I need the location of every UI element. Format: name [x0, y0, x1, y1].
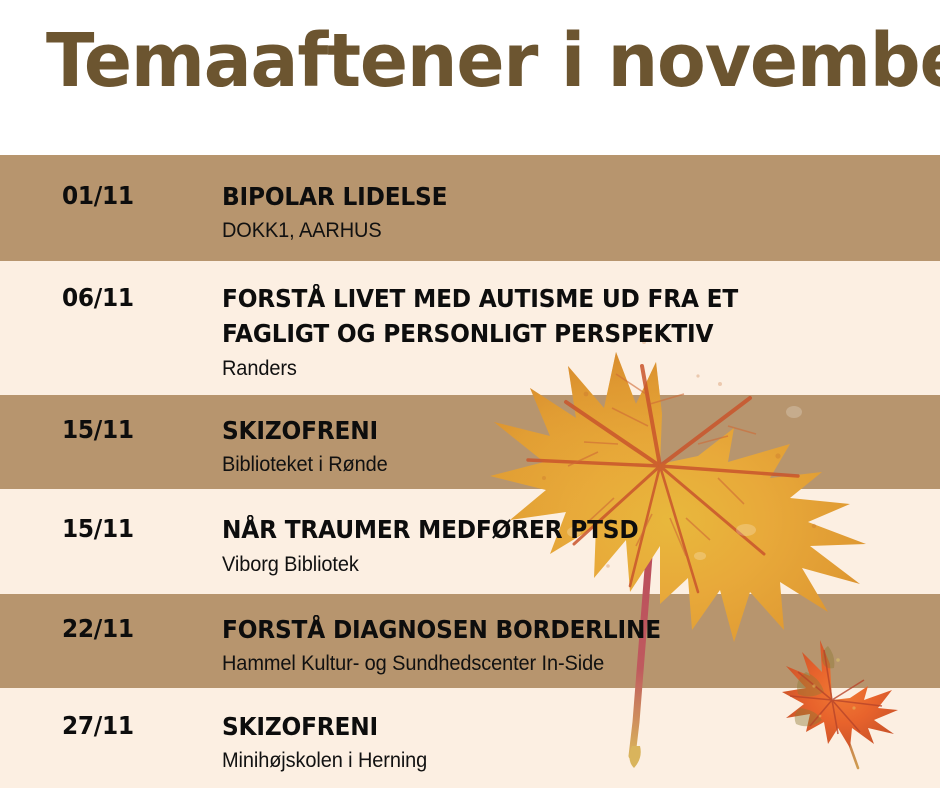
event-date: 27/11 — [62, 711, 134, 740]
event-venue: Randers — [222, 355, 895, 382]
event-body: SKIZOFRENIBiblioteket i Rønde — [222, 413, 930, 479]
event-body: SKIZOFRENIMinihøjskolen i Herning — [222, 709, 930, 775]
event-body: NÅR TRAUMER MEDFØRER PTSDViborg Bibliote… — [222, 512, 930, 578]
event-title: FORSTÅ LIVET MED AUTISME UD FRA ET FAGLI… — [222, 281, 880, 352]
event-row[interactable]: 15/11SKIZOFRENIBiblioteket i Rønde — [0, 395, 940, 489]
event-row[interactable]: 15/11NÅR TRAUMER MEDFØRER PTSDViborg Bib… — [0, 489, 940, 594]
event-date: 15/11 — [62, 514, 134, 543]
event-venue: Biblioteket i Rønde — [222, 451, 895, 478]
event-venue: Hammel Kultur- og Sundhedscenter In-Side — [222, 650, 895, 677]
event-title: FORSTÅ DIAGNOSEN BORDERLINE — [222, 612, 880, 648]
event-venue: DOKK1, AARHUS — [222, 217, 895, 244]
event-title: NÅR TRAUMER MEDFØRER PTSD — [222, 512, 880, 548]
poster-canvas: Temaaftener i november 01/11BIPOLAR LIDE… — [0, 0, 940, 788]
event-title: SKIZOFRENI — [222, 413, 880, 449]
event-date: 01/11 — [62, 181, 134, 210]
event-venue: Viborg Bibliotek — [222, 551, 895, 578]
event-row[interactable]: 22/11FORSTÅ DIAGNOSEN BORDERLINEHammel K… — [0, 594, 940, 688]
event-title: SKIZOFRENI — [222, 709, 880, 745]
page-title: Temaaftener i november — [46, 22, 940, 102]
event-row[interactable]: 01/11BIPOLAR LIDELSEDOKK1, AARHUS — [0, 155, 940, 261]
event-date: 06/11 — [62, 283, 134, 312]
event-title: BIPOLAR LIDELSE — [222, 179, 880, 215]
event-body: BIPOLAR LIDELSEDOKK1, AARHUS — [222, 179, 930, 245]
poster-header: Temaaftener i november — [0, 0, 940, 155]
event-date: 15/11 — [62, 415, 134, 444]
event-date: 22/11 — [62, 614, 134, 643]
event-body: FORSTÅ DIAGNOSEN BORDERLINEHammel Kultur… — [222, 612, 930, 678]
event-row[interactable]: 06/11FORSTÅ LIVET MED AUTISME UD FRA ET … — [0, 261, 940, 395]
event-venue: Minihøjskolen i Herning — [222, 747, 895, 774]
event-row[interactable]: 27/11SKIZOFRENIMinihøjskolen i Herning — [0, 688, 940, 788]
event-body: FORSTÅ LIVET MED AUTISME UD FRA ET FAGLI… — [222, 281, 930, 382]
